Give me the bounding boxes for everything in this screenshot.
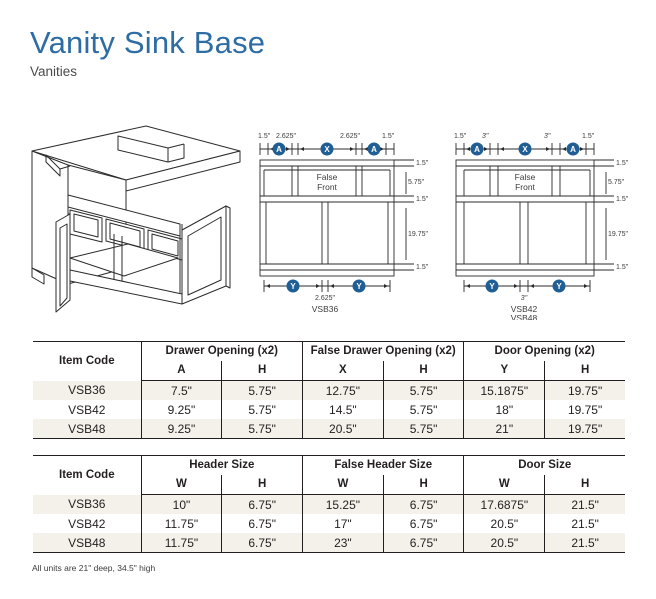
badge-a-left: A bbox=[273, 143, 286, 156]
table-group-header-row: Item Code Drawer Opening (x2) False Draw… bbox=[33, 342, 625, 362]
false-front-label-1: False bbox=[515, 172, 536, 182]
cell-value: 6.75" bbox=[222, 533, 303, 553]
false-front-label-2: Front bbox=[317, 182, 337, 192]
svg-text:Y: Y bbox=[556, 282, 562, 291]
cell-value: 17" bbox=[303, 514, 384, 533]
svg-text:Y: Y bbox=[290, 282, 296, 291]
cell-value: 9.25" bbox=[141, 400, 222, 419]
header-sub-1-0: W bbox=[303, 475, 384, 495]
header-item-code: Item Code bbox=[33, 342, 141, 381]
header-sub-1-1: H bbox=[383, 361, 464, 381]
cell-item-code: VSB48 bbox=[33, 419, 141, 439]
dim-top-1: 1.5" bbox=[258, 133, 271, 140]
cell-value: 6.75" bbox=[222, 495, 303, 515]
cell-value: 5.75" bbox=[222, 419, 303, 439]
dim-right-3: 1.5" bbox=[416, 196, 429, 203]
dim-right-2: 5.75" bbox=[408, 179, 425, 186]
cell-value: 19.75" bbox=[545, 419, 625, 439]
cell-value: 10" bbox=[141, 495, 222, 515]
dim-top-1: 1.5" bbox=[454, 133, 467, 140]
dim-right-3: 1.5" bbox=[616, 196, 629, 203]
badge-a-right: A bbox=[368, 143, 381, 156]
drawing-code-vsb36: VSB36 bbox=[312, 304, 339, 314]
cell-value: 11.75" bbox=[141, 533, 222, 553]
cell-value: 21" bbox=[464, 419, 545, 439]
table-row: VSB36 7.5" 5.75" 12.75" 5.75" 15.1875" 1… bbox=[33, 381, 625, 401]
cell-item-code: VSB36 bbox=[33, 381, 141, 401]
header-sub-2-1: H bbox=[545, 361, 625, 381]
sizes-table: Item Code Header Size False Header Size … bbox=[33, 455, 625, 553]
cell-value: 20.5" bbox=[464, 514, 545, 533]
header-group-0: Header Size bbox=[141, 456, 302, 476]
table-row: VSB42 11.75" 6.75" 17" 6.75" 20.5" 21.5" bbox=[33, 514, 625, 533]
front-elevation-vsb42-vsb48: 1.5" 3" 3" 1.5" A X A False Front 1.5" 5… bbox=[442, 124, 632, 325]
cell-value: 5.75" bbox=[383, 419, 464, 439]
isometric-cabinet-illustration bbox=[18, 118, 246, 319]
svg-text:X: X bbox=[324, 145, 330, 154]
header-sub-2-1: H bbox=[545, 475, 625, 495]
cell-value: 5.75" bbox=[383, 381, 464, 401]
cell-value: 20.5" bbox=[302, 419, 383, 439]
table-row: VSB36 10" 6.75" 15.25" 6.75" 17.6875" 21… bbox=[33, 495, 625, 515]
front-elevation-vsb36: 1.5" 2.625" 2.625" 1.5" A X A False Fron… bbox=[246, 124, 436, 319]
cell-value: 6.75" bbox=[383, 533, 464, 553]
svg-text:Y: Y bbox=[489, 282, 495, 291]
header-group-2: Door Size bbox=[464, 456, 625, 476]
dim-right-2: 5.75" bbox=[608, 179, 625, 186]
dim-top-3: 3" bbox=[544, 133, 551, 140]
header-sub-0-0: W bbox=[141, 475, 222, 495]
header-item-code: Item Code bbox=[33, 456, 141, 495]
header-sub-1-0: X bbox=[302, 361, 383, 381]
cell-value: 6.75" bbox=[383, 514, 464, 533]
badge-y-left: Y bbox=[486, 280, 499, 293]
cell-value: 15.25" bbox=[303, 495, 384, 515]
cell-value: 9.25" bbox=[141, 419, 222, 439]
dim-top-2: 2.625" bbox=[276, 133, 297, 140]
header-group-1: False Header Size bbox=[303, 456, 464, 476]
cell-value: 21.5" bbox=[545, 514, 625, 533]
header-sub-2-0: W bbox=[464, 475, 545, 495]
drawing-code-vsb48: VSB48 bbox=[511, 313, 538, 320]
dim-right-4: 19.75" bbox=[608, 231, 629, 238]
badge-x: X bbox=[519, 143, 532, 156]
dim-right-1: 1.5" bbox=[416, 160, 429, 167]
cell-value: 5.75" bbox=[222, 381, 303, 401]
badge-y-right: Y bbox=[353, 280, 366, 293]
header-sub-0-1: H bbox=[222, 475, 303, 495]
dim-right-4: 19.75" bbox=[408, 231, 429, 238]
svg-text:A: A bbox=[276, 145, 282, 154]
dim-top-4: 1.5" bbox=[382, 133, 395, 140]
header-group-1: False Drawer Opening (x2) bbox=[302, 342, 463, 362]
dim-right-5: 1.5" bbox=[616, 264, 629, 271]
cell-item-code: VSB42 bbox=[33, 400, 141, 419]
page-subtitle: Vanities bbox=[30, 65, 265, 80]
header-sub-1-1: H bbox=[383, 475, 464, 495]
openings-table: Item Code Drawer Opening (x2) False Draw… bbox=[33, 341, 625, 439]
cell-value: 19.75" bbox=[545, 400, 625, 419]
dim-bottom-center: 3" bbox=[521, 295, 528, 302]
cell-item-code: VSB48 bbox=[33, 533, 141, 553]
table-row: VSB42 9.25" 5.75" 14.5" 5.75" 18" 19.75" bbox=[33, 400, 625, 419]
header-group-2: Door Opening (x2) bbox=[464, 342, 625, 362]
badge-x: X bbox=[321, 143, 334, 156]
cell-value: 20.5" bbox=[464, 533, 545, 553]
page-title: Vanity Sink Base bbox=[30, 26, 265, 60]
page-header: Vanity Sink Base Vanities bbox=[30, 26, 265, 80]
cell-value: 7.5" bbox=[141, 381, 222, 401]
cell-value: 15.1875" bbox=[464, 381, 545, 401]
dim-top-3: 2.625" bbox=[340, 133, 361, 140]
header-sub-0-0: A bbox=[141, 361, 222, 381]
false-front-label-2: Front bbox=[515, 182, 535, 192]
cell-value: 19.75" bbox=[545, 381, 625, 401]
table-row: VSB48 11.75" 6.75" 23" 6.75" 20.5" 21.5" bbox=[33, 533, 625, 553]
svg-text:A: A bbox=[570, 145, 576, 154]
cell-value: 5.75" bbox=[222, 400, 303, 419]
badge-y-left: Y bbox=[287, 280, 300, 293]
figure-row: 1.5" 2.625" 2.625" 1.5" A X A False Fron… bbox=[0, 118, 656, 318]
cell-item-code: VSB42 bbox=[33, 514, 141, 533]
header-group-0: Drawer Opening (x2) bbox=[141, 342, 302, 362]
false-front-label-1: False bbox=[317, 172, 338, 182]
cell-value: 6.75" bbox=[383, 495, 464, 515]
cell-value: 14.5" bbox=[302, 400, 383, 419]
cell-value: 21.5" bbox=[545, 533, 625, 553]
svg-text:X: X bbox=[522, 145, 528, 154]
header-sub-0-1: H bbox=[222, 361, 303, 381]
table-row: VSB48 9.25" 5.75" 20.5" 5.75" 21" 19.75" bbox=[33, 419, 625, 439]
svg-text:A: A bbox=[371, 145, 377, 154]
svg-text:Y: Y bbox=[356, 282, 362, 291]
cell-value: 18" bbox=[464, 400, 545, 419]
dim-top-2: 3" bbox=[482, 133, 489, 140]
badge-y-right: Y bbox=[553, 280, 566, 293]
svg-text:A: A bbox=[474, 145, 480, 154]
table-group-header-row: Item Code Header Size False Header Size … bbox=[33, 456, 625, 476]
dim-top-4: 1.5" bbox=[582, 133, 595, 140]
cell-value: 23" bbox=[303, 533, 384, 553]
cell-value: 17.6875" bbox=[464, 495, 545, 515]
cell-item-code: VSB36 bbox=[33, 495, 141, 515]
cell-value: 12.75" bbox=[302, 381, 383, 401]
dim-bottom-center: 2.625" bbox=[315, 295, 336, 302]
cell-value: 6.75" bbox=[222, 514, 303, 533]
footnote: All units are 21" deep, 34.5" high bbox=[32, 563, 155, 573]
badge-a-left: A bbox=[471, 143, 484, 156]
dim-right-5: 1.5" bbox=[416, 264, 429, 271]
cell-value: 11.75" bbox=[141, 514, 222, 533]
cell-value: 5.75" bbox=[383, 400, 464, 419]
cell-value: 21.5" bbox=[545, 495, 625, 515]
header-sub-2-0: Y bbox=[464, 361, 545, 381]
badge-a-right: A bbox=[567, 143, 580, 156]
dim-right-1: 1.5" bbox=[616, 160, 629, 167]
